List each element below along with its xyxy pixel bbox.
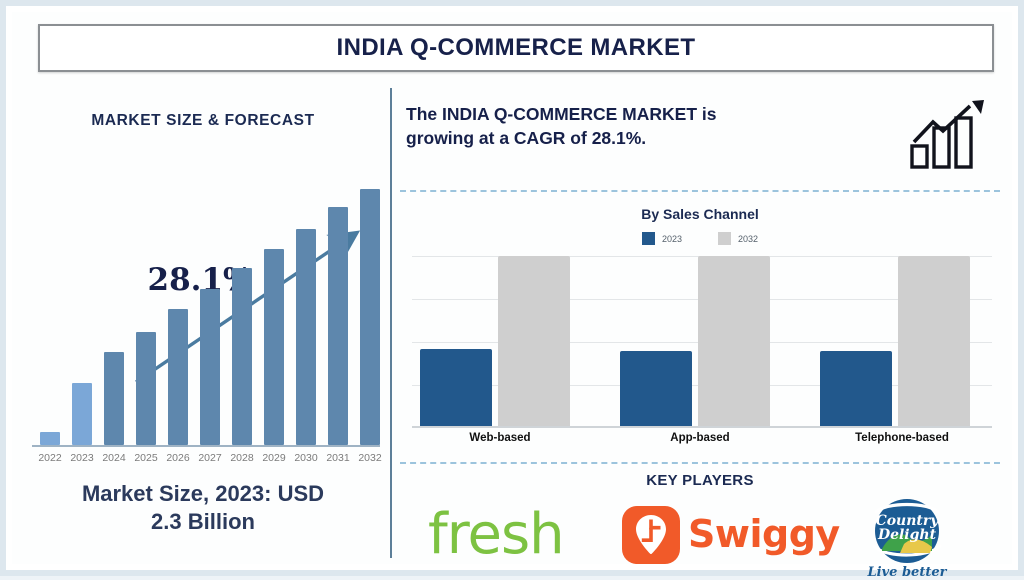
legend-label-2032: 2032 [738, 234, 758, 244]
headline-line1: The INDIA Q-COMMERCE MARKET is [406, 104, 716, 124]
grouped-bar-app-2032 [698, 256, 770, 426]
sales-channel-chart [412, 256, 992, 428]
legend-label-2023: 2023 [662, 234, 682, 244]
bar-2029 [264, 249, 284, 445]
svg-text:Live better: Live better [867, 565, 948, 580]
left-panel: MARKET SIZE & FORECAST 28.1% [20, 80, 386, 580]
year-label: 2030 [291, 452, 321, 464]
grouped-bar-web-2032 [498, 256, 570, 426]
year-label: 2027 [195, 452, 225, 464]
market-size-forecast-heading: MARKET SIZE & FORECAST [20, 112, 386, 130]
key-players-title: KEY PLAYERS [400, 472, 1000, 489]
market-size-bars [34, 185, 378, 445]
page-title: INDIA Q-COMMERCE MARKET [337, 34, 696, 62]
right-panel: The INDIA Q-COMMERCE MARKET is growing a… [400, 80, 1000, 580]
sales-channel-legend: 2023 2032 [400, 232, 1000, 245]
key-players-logos: fresh Swiggy Country [400, 494, 1000, 580]
year-label: 2022 [35, 452, 65, 464]
legend-swatch-2023-icon [642, 232, 655, 245]
year-axis: 2022 2023 2024 2025 2026 2027 2028 2029 … [34, 452, 378, 470]
fresh-logo-icon: fresh [428, 500, 596, 570]
year-label: 2025 [131, 452, 161, 464]
year-label: 2023 [67, 452, 97, 464]
bar-2024 [104, 352, 124, 445]
title-bar: INDIA Q-COMMERCE MARKET [38, 24, 994, 72]
year-label: 2032 [355, 452, 385, 464]
swiggy-logo-icon: Swiggy [622, 504, 832, 568]
bar-2028 [232, 268, 252, 445]
bar-2032 [360, 189, 380, 445]
panel-divider [390, 88, 392, 558]
grouped-bar-telephone-2032 [898, 256, 970, 426]
bar-chart-growth-icon [908, 98, 994, 170]
sales-channel-title: By Sales Channel [400, 206, 1000, 222]
year-label: 2026 [163, 452, 193, 464]
year-label: 2024 [99, 452, 129, 464]
year-label: 2031 [323, 452, 353, 464]
bar-2027 [200, 289, 220, 445]
market-size-line1: Market Size, 2023: USD [82, 481, 324, 506]
country-delight-logo-icon: Country Delight Live better [852, 494, 962, 580]
legend-item-2023: 2023 [642, 232, 682, 245]
bar-2025 [136, 332, 156, 445]
category-label-web: Web-based [430, 432, 570, 444]
sales-channel-categories: Web-based App-based Telephone-based [412, 432, 992, 452]
grouped-chart-baseline [412, 426, 992, 428]
category-label-app: App-based [630, 432, 770, 444]
bar-2031 [328, 207, 348, 445]
legend-item-2032: 2032 [718, 232, 758, 245]
legend-swatch-2032-icon [718, 232, 731, 245]
swiggy-wordmark: Swiggy [688, 512, 840, 556]
bar-2023 [72, 383, 92, 445]
infographic-page: INDIA Q-COMMERCE MARKET MARKET SIZE & FO… [0, 0, 1024, 576]
grouped-bar-web-2023 [420, 349, 492, 426]
divider-bottom [400, 462, 1000, 464]
cagr-headline: The INDIA Q-COMMERCE MARKET is growing a… [406, 102, 836, 150]
infographic-inner: INDIA Q-COMMERCE MARKET MARKET SIZE & FO… [12, 12, 1012, 564]
bar-2030 [296, 229, 316, 445]
svg-text:Delight: Delight [877, 527, 937, 543]
divider-top [400, 190, 1000, 192]
bar-2022 [40, 432, 60, 445]
category-label-telephone: Telephone-based [822, 432, 982, 444]
left-chart-baseline [32, 445, 380, 447]
grouped-bar-app-2023 [620, 351, 692, 426]
headline-line2: growing at a CAGR of 28.1%. [406, 128, 646, 148]
year-label: 2029 [259, 452, 289, 464]
swiggy-mark-icon [622, 506, 680, 564]
grouped-bar-telephone-2023 [820, 351, 892, 426]
market-size-value: Market Size, 2023: USD 2.3 Billion [20, 480, 386, 535]
bar-2026 [168, 309, 188, 445]
year-label: 2028 [227, 452, 257, 464]
market-size-line2: 2.3 Billion [151, 509, 255, 534]
